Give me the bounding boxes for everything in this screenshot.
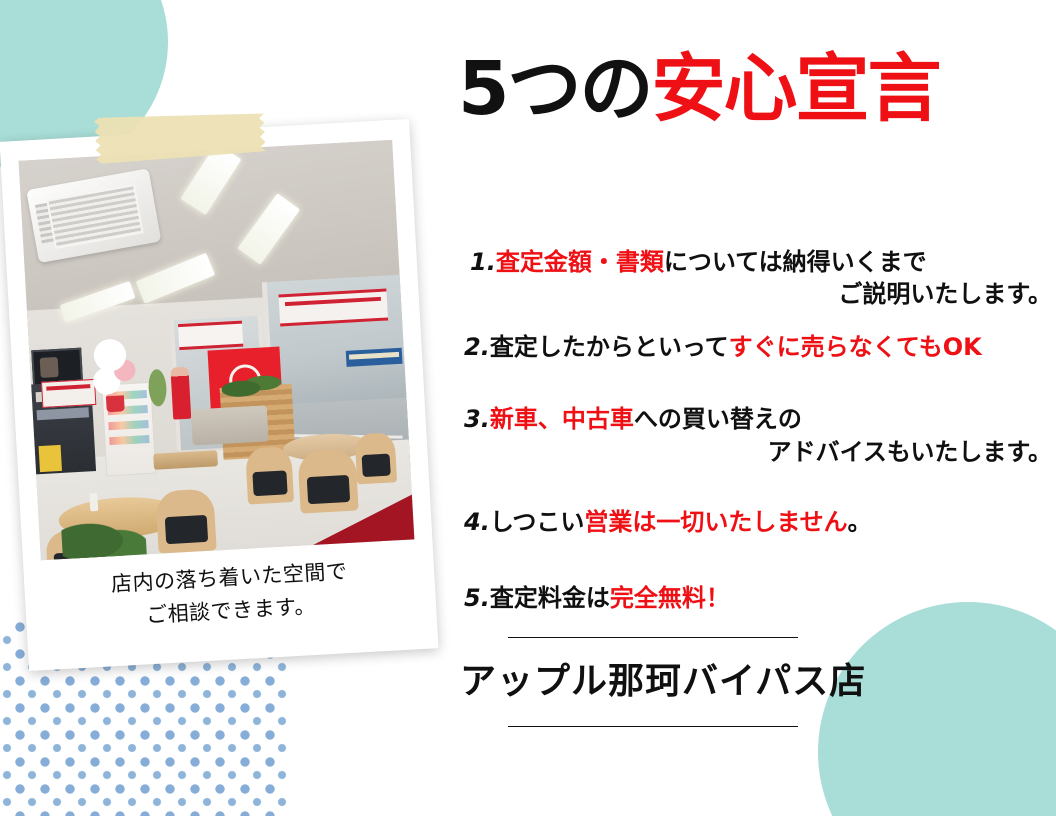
promise-4-black-text: しつこい xyxy=(490,508,585,536)
red-vase xyxy=(106,395,125,412)
promise-4-number: 4. xyxy=(464,508,490,536)
promise-2-line-1: 2.査定したからといってすぐに売らなくてもOK xyxy=(464,331,1056,363)
standee-figure xyxy=(170,367,191,420)
flower-arrangement xyxy=(91,335,141,401)
headline-black-text: 5つの xyxy=(458,46,652,132)
promise-3-black-text: への買い替えの xyxy=(634,405,802,433)
content-panel: 5つの安心宣言 1.査定金額・書類については納得いくまで ご説明いたします。 2… xyxy=(440,0,1056,816)
promise-5-red-text: 完全無料！ xyxy=(610,584,730,612)
ac-vent xyxy=(46,184,143,249)
promise-list: 1.査定金額・書類については納得いくまで ご説明いたします。 2.査定したからと… xyxy=(440,246,1056,727)
promise-5-black-text: 査定料金は xyxy=(490,584,610,612)
foreground-plant xyxy=(61,514,148,560)
promise-1-line-1: 1.査定金額・書類については納得いくまで xyxy=(440,246,1056,278)
chair-mid-right xyxy=(297,448,358,513)
promise-4-line-1: 4.しつこい営業は一切いたしません。 xyxy=(464,506,1056,538)
promise-5-number: 5. xyxy=(464,584,490,612)
promise-2-black-text: 査定したからといって xyxy=(490,333,729,361)
headline-red-text: 安心宣言 xyxy=(652,46,940,132)
red-window-banner-large xyxy=(278,288,388,326)
chair-mid-left xyxy=(245,446,294,504)
list-item: 2.査定したからといってすぐに売らなくてもOK xyxy=(440,331,1056,363)
divider-above-shop-name xyxy=(508,637,798,638)
promise-3-number: 3. xyxy=(464,405,490,433)
store-interior-photo xyxy=(19,140,415,560)
promise-1-line-2: ご説明いたします。 xyxy=(440,278,1056,310)
shop-name: アップル那珂バイパス店 xyxy=(460,652,1056,704)
promise-2-number: 2. xyxy=(464,333,490,361)
red-shop-sign xyxy=(41,379,96,408)
photo-caption: 店内の落ち着いた空間で ご相談できます。 xyxy=(24,550,437,638)
promise-3-red-text: 新車、中古車 xyxy=(490,405,634,433)
list-item: 5.査定料金は完全無料！ xyxy=(440,582,1056,614)
chair-far-right xyxy=(354,432,397,484)
promise-1-red-text: 査定金額・書類 xyxy=(496,248,664,276)
promise-3-line-1: 3.新車、中古車への買い替えの xyxy=(464,403,1056,435)
polaroid-photo-card: 店内の落ち着いた空間で ご相談できます。 xyxy=(0,119,438,671)
promise-4-red-text: 営業は一切いたしません xyxy=(584,508,847,536)
page-title: 5つの安心宣言 xyxy=(458,52,940,126)
list-item: 1.査定金額・書類については納得いくまで ご説明いたします。 xyxy=(440,246,1056,311)
divider-below-shop-name xyxy=(508,726,798,727)
promise-1-black-text: については納得いくまで xyxy=(664,248,927,276)
red-window-banner-small xyxy=(178,321,243,351)
promise-5-line-1: 5.査定料金は完全無料！ xyxy=(464,582,1056,614)
promise-4-tail-text: 。 xyxy=(848,508,872,536)
promise-2-red-text: すぐに売らなくてもOK xyxy=(729,333,982,361)
promise-3-line-2: アドバイスもいたします。 xyxy=(464,436,1056,468)
list-item: 3.新車、中古車への買い替えの アドバイスもいたします。 xyxy=(440,403,1056,468)
planter-greenery xyxy=(221,368,287,402)
list-item: 4.しつこい営業は一切いたしません。 xyxy=(440,506,1056,538)
chair-near xyxy=(155,488,216,553)
promise-1-number: 1. xyxy=(470,248,496,276)
poster-canvas: 店内の落ち着いた空間で ご相談できます。 5つの安心宣言 1.査定金額・書類につ… xyxy=(0,0,1056,816)
photo-content xyxy=(19,140,415,560)
blue-street-banner xyxy=(346,348,403,367)
lounge-sofa xyxy=(191,405,269,445)
hand-sanitizer-bottle xyxy=(89,493,98,511)
